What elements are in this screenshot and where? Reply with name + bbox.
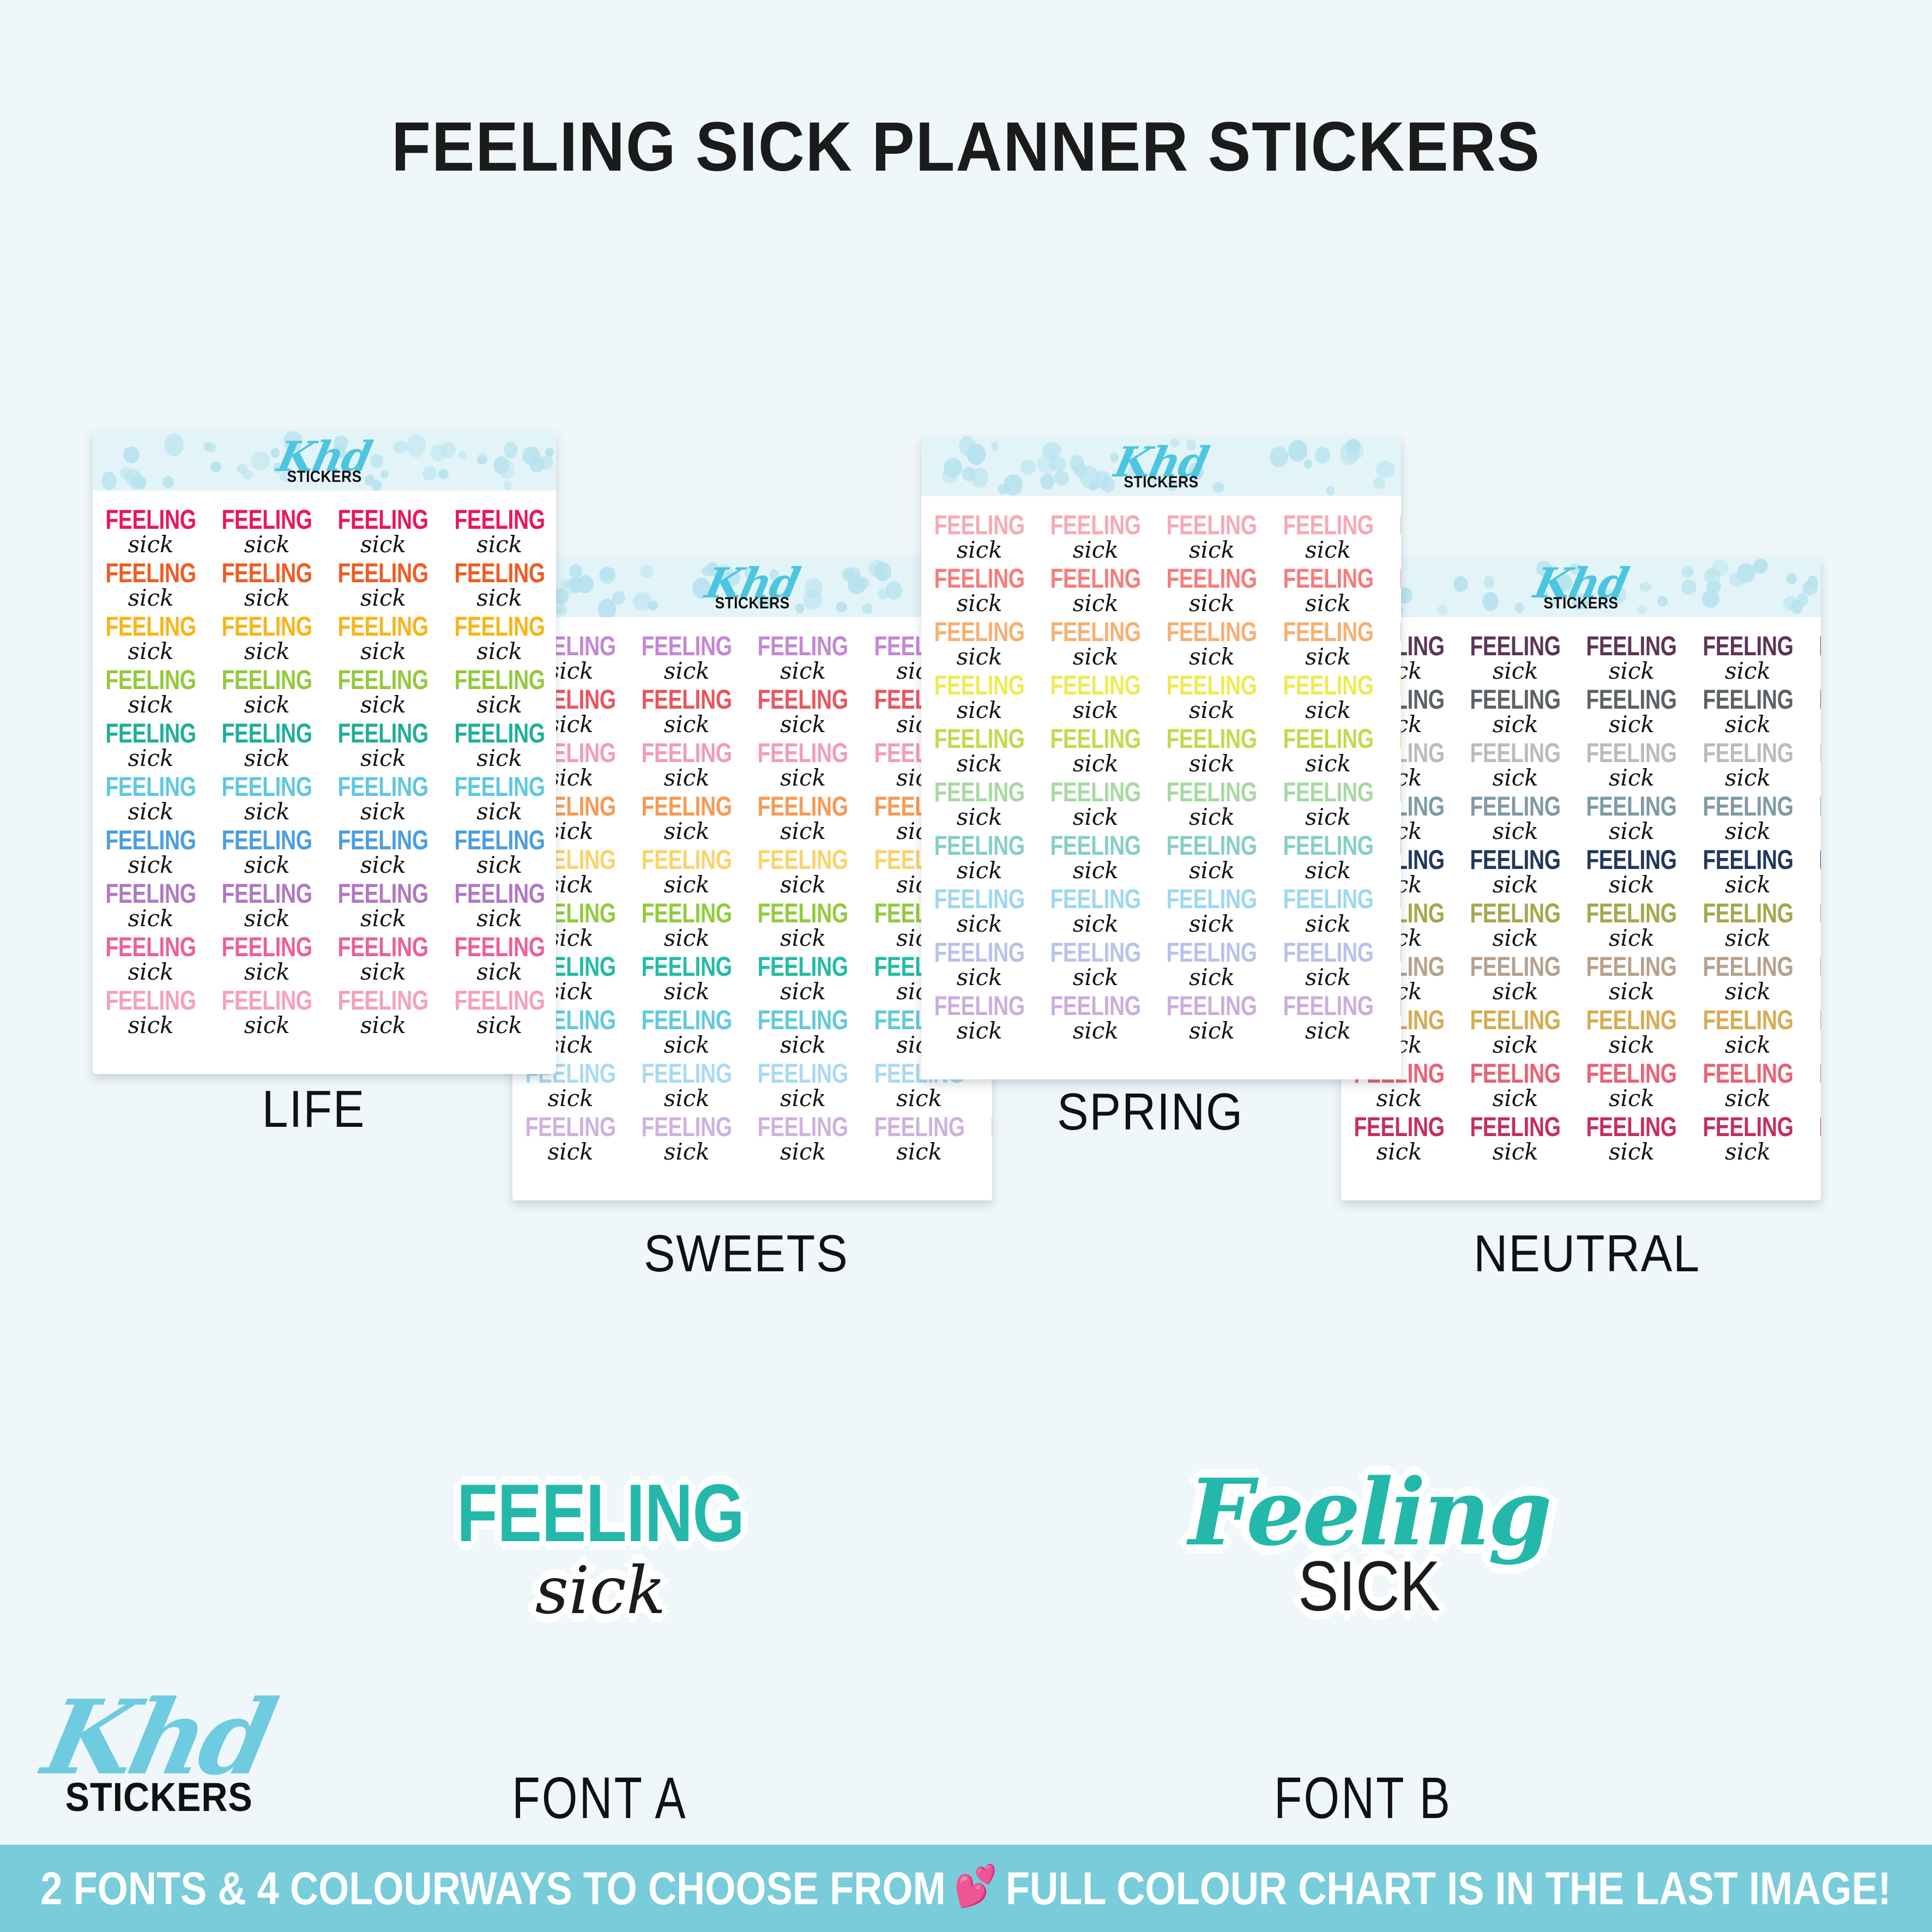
- sticker-line-sick: sick: [921, 539, 1037, 562]
- sticker-line-feeling: FEELING: [934, 672, 1024, 699]
- sticker-feeling-sick[interactable]: FEELINGsick: [442, 987, 556, 1040]
- banner-text-before: 2 FONTS & 4 COLOURWAYS TO CHOOSE FROM: [41, 1862, 946, 1915]
- sticker-line-feeling: FEELING: [1470, 739, 1561, 766]
- sticker-feeling-sick[interactable]: FEELINGsick: [1037, 939, 1154, 992]
- sticker-line-feeling: FEELING: [1470, 686, 1561, 713]
- sticker-feeling-sick[interactable]: FEELINGsick: [209, 720, 325, 773]
- sticker-feeling-sick[interactable]: FEELINGsick: [325, 773, 441, 826]
- sticker-feeling-sick[interactable]: FEELINGsick: [325, 559, 441, 613]
- sticker-feeling-sick[interactable]: FEELINGsick: [1573, 899, 1689, 953]
- sticker-feeling-sick[interactable]: FEELINGsick: [1154, 725, 1270, 778]
- sticker-feeling-sick[interactable]: FEELINGsick: [1154, 992, 1270, 1046]
- sticker-feeling-sick[interactable]: FEELINGsick: [93, 506, 209, 559]
- sticker-feeling-sick[interactable]: FEELINGsick: [209, 826, 325, 880]
- sticker-line-sick: sick: [861, 1087, 977, 1110]
- sticker-feeling-sick[interactable]: FEELINGsick: [629, 1006, 745, 1060]
- sticker-feeling-sick[interactable]: FEELINGsick: [745, 1113, 861, 1167]
- sticker-feeling-sick[interactable]: FEELINGsick: [442, 773, 556, 826]
- sticker-feeling-sick[interactable]: FEELINGsick: [1573, 953, 1689, 1006]
- sticker-line-feeling: FEELING: [222, 506, 312, 533]
- sticker-line-feeling: FEELING: [338, 933, 428, 961]
- sticker-line-sick: sick: [93, 961, 209, 983]
- sticker-line-sick: sick: [1806, 1034, 1821, 1056]
- sticker-feeling-sick[interactable]: FEELINGsick: [1457, 686, 1573, 739]
- sticker-feeling-sick[interactable]: FEELINGsick: [442, 666, 556, 720]
- sticker-feeling-sick[interactable]: FEELINGsick: [1154, 885, 1270, 939]
- sticker-line-sick: sick: [209, 747, 325, 770]
- sticker-feeling-sick[interactable]: FEELINGsick: [1037, 778, 1154, 832]
- sticker-feeling-sick[interactable]: FEELINGsick: [745, 1060, 861, 1113]
- sticker-feeling-sick[interactable]: FEELINGsick: [629, 1113, 745, 1167]
- sticker-line-feeling: FEELING: [105, 880, 196, 907]
- sticker-feeling-sick[interactable]: FEELINGsick: [1457, 1113, 1573, 1167]
- sticker-line-feeling: FEELING: [758, 632, 848, 660]
- sticker-line-feeling: FEELING: [338, 559, 428, 587]
- sticker-line-sick: sick: [745, 873, 861, 896]
- sticker-line-feeling: FEELING: [1702, 846, 1793, 873]
- sticker-line-sick: sick: [1457, 713, 1573, 736]
- font-b-line2: SICK: [1213, 1550, 1524, 1621]
- sticker-feeling-sick[interactable]: FEELINGsick: [93, 773, 209, 826]
- sticker-row: FEELINGsickFEELINGsickFEELINGsickFEELING…: [93, 826, 556, 880]
- sticker-line-sick: sick: [921, 752, 1037, 775]
- sticker-line-feeling: FEELING: [1819, 739, 1821, 766]
- sticker-line-feeling: FEELING: [1399, 832, 1401, 859]
- sticker-line-feeling: FEELING: [642, 1113, 732, 1140]
- sticker-line-sick: sick: [442, 800, 556, 823]
- sticker-feeling-sick[interactable]: FEELINGsick: [1690, 846, 1806, 899]
- sticker-line-sick: sick: [1386, 806, 1401, 829]
- sticker-feeling-sick[interactable]: FEELINGsick: [93, 933, 209, 987]
- sticker-feeling-sick[interactable]: FEELINGsick: [1806, 953, 1821, 1006]
- sticker-feeling-sick[interactable]: FEELINGsick: [1690, 899, 1806, 953]
- sticker-feeling-sick[interactable]: FEELINGsick: [745, 846, 861, 899]
- sticker-feeling-sick[interactable]: FEELINGsick: [209, 559, 325, 613]
- sticker-feeling-sick[interactable]: FEELINGsick: [1573, 1006, 1689, 1060]
- sticker-line-sick: sick: [1154, 913, 1270, 935]
- sticker-feeling-sick[interactable]: FEELINGsick: [1690, 632, 1806, 686]
- sticker-line-feeling: FEELING: [454, 933, 545, 961]
- sticker-feeling-sick[interactable]: FEELINGsick: [1386, 778, 1401, 832]
- sticker-feeling-sick[interactable]: FEELINGsick: [442, 559, 556, 613]
- sticker-feeling-sick[interactable]: FEELINGsick: [1457, 793, 1573, 846]
- sticker-feeling-sick[interactable]: FEELINGsick: [745, 632, 861, 686]
- sticker-feeling-sick[interactable]: FEELINGsick: [1037, 618, 1154, 672]
- sticker-line-feeling: FEELING: [934, 992, 1024, 1019]
- sticker-line-feeling: FEELING: [1819, 793, 1821, 820]
- sticker-line-feeling: FEELING: [222, 933, 312, 961]
- sticker-line-feeling: FEELING: [758, 1006, 848, 1034]
- sticker-line-sick: sick: [1270, 966, 1386, 989]
- sticker-feeling-sick[interactable]: FEELINGsick: [1270, 565, 1386, 618]
- sticker-feeling-sick[interactable]: FEELINGsick: [1806, 1113, 1821, 1167]
- sticker-line-sick: sick: [1037, 592, 1154, 615]
- sticker-line-feeling: FEELING: [934, 725, 1024, 752]
- sticker-feeling-sick[interactable]: FEELINGsick: [921, 778, 1037, 832]
- sticker-feeling-sick[interactable]: FEELINGsick: [1806, 686, 1821, 739]
- sticker-feeling-sick[interactable]: FEELINGsick: [1573, 686, 1689, 739]
- sticker-sheet-sweets[interactable]: KhdSTICKERSFEELINGsickFEELINGsickFEELING…: [512, 557, 992, 1200]
- sticker-row: FEELINGsickFEELINGsickFEELINGsickFEELING…: [93, 773, 556, 826]
- sticker-line-sick: sick: [209, 1014, 325, 1037]
- sticker-feeling-sick[interactable]: FEELINGsick: [1270, 618, 1386, 672]
- sticker-feeling-sick[interactable]: FEELINGsick: [1457, 739, 1573, 793]
- sticker-line-sick: sick: [1573, 766, 1689, 789]
- sticker-feeling-sick[interactable]: FEELINGsick: [325, 720, 441, 773]
- sticker-feeling-sick[interactable]: FEELINGsick: [1457, 846, 1573, 899]
- sheet-logo-life: KhdSTICKERS: [279, 436, 370, 485]
- sticker-feeling-sick[interactable]: FEELINGsick: [1270, 832, 1386, 885]
- sticker-line-feeling: FEELING: [934, 832, 1024, 859]
- sticker-line-feeling: FEELING: [1354, 1113, 1444, 1140]
- sticker-line-sick: sick: [629, 927, 745, 950]
- sticker-line-feeling: FEELING: [222, 666, 312, 693]
- sticker-line-sick: sick: [1386, 645, 1401, 668]
- sticker-feeling-sick[interactable]: FEELINGsick: [442, 826, 556, 880]
- sticker-line-feeling: FEELING: [1050, 511, 1141, 539]
- sticker-feeling-sick[interactable]: FEELINGsick: [629, 632, 745, 686]
- sticker-feeling-sick[interactable]: FEELINGsick: [1154, 832, 1270, 885]
- sticker-feeling-sick[interactable]: FEELINGsick: [1806, 846, 1821, 899]
- sticker-feeling-sick[interactable]: FEELINGsick: [1573, 1060, 1689, 1113]
- sticker-row: FEELINGsickFEELINGsickFEELINGsickFEELING…: [93, 880, 556, 933]
- sticker-feeling-sick[interactable]: FEELINGsick: [442, 880, 556, 933]
- sticker-row: FEELINGsickFEELINGsickFEELINGsickFEELING…: [512, 632, 992, 686]
- sticker-feeling-sick[interactable]: FEELINGsick: [1386, 885, 1401, 939]
- sticker-row: FEELINGsickFEELINGsickFEELINGsickFEELING…: [921, 511, 1401, 565]
- sticker-feeling-sick[interactable]: FEELINGsick: [1806, 793, 1821, 846]
- sticker-sheet-neutral[interactable]: KhdSTICKERSFEELINGsickFEELINGsickFEELING…: [1341, 557, 1821, 1200]
- sticker-line-feeling: FEELING: [1586, 739, 1677, 766]
- sticker-line-sick: sick: [1386, 966, 1401, 989]
- sticker-line-sick: sick: [1690, 1087, 1806, 1110]
- sticker-feeling-sick[interactable]: FEELINGsick: [921, 992, 1037, 1046]
- sticker-line-sick: sick: [629, 1034, 745, 1056]
- sticker-line-sick: sick: [1154, 699, 1270, 722]
- sticker-line-feeling: FEELING: [1283, 618, 1373, 645]
- sticker-feeling-sick[interactable]: FEELINGsick: [921, 939, 1037, 992]
- sticker-feeling-sick[interactable]: FEELINGsick: [1037, 885, 1154, 939]
- sticker-feeling-sick[interactable]: FEELINGsick: [1457, 1060, 1573, 1113]
- sticker-line-sick: sick: [1270, 806, 1386, 829]
- sticker-feeling-sick[interactable]: FEELINGsick: [93, 987, 209, 1040]
- sticker-feeling-sick[interactable]: FEELINGsick: [1270, 672, 1386, 725]
- sticker-line-sick: sick: [1573, 820, 1689, 843]
- sticker-feeling-sick[interactable]: FEELINGsick: [1806, 1006, 1821, 1060]
- sticker-feeling-sick[interactable]: FEELINGsick: [921, 725, 1037, 778]
- khd-logo-subtitle: STICKERS: [1121, 474, 1202, 491]
- sticker-row: FEELINGsickFEELINGsickFEELINGsickFEELING…: [512, 686, 992, 739]
- sticker-line-sick: sick: [1270, 699, 1386, 722]
- sticker-feeling-sick[interactable]: FEELINGsick: [1154, 672, 1270, 725]
- sticker-line-feeling: FEELING: [1050, 832, 1141, 859]
- sticker-feeling-sick[interactable]: FEELINGsick: [1037, 725, 1154, 778]
- sticker-line-sick: sick: [1573, 1140, 1689, 1163]
- sticker-feeling-sick[interactable]: FEELINGsick: [629, 953, 745, 1006]
- sticker-line-feeling: FEELING: [1819, 632, 1821, 660]
- sheet-body-sweets: FEELINGsickFEELINGsickFEELINGsickFEELING…: [512, 617, 992, 1200]
- sticker-line-feeling: FEELING: [1167, 832, 1257, 859]
- sticker-row: FEELINGsickFEELINGsickFEELINGsickFEELING…: [921, 832, 1401, 885]
- sticker-line-feeling: FEELING: [1283, 992, 1373, 1019]
- sticker-feeling-sick[interactable]: FEELINGsick: [1457, 899, 1573, 953]
- sticker-feeling-sick[interactable]: FEELINGsick: [1690, 1060, 1806, 1113]
- sticker-line-feeling: FEELING: [1702, 953, 1793, 980]
- sticker-line-sick: sick: [1806, 660, 1821, 683]
- sticker-feeling-sick[interactable]: FEELINGsick: [745, 739, 861, 793]
- font-a-line1: FEELING: [457, 1472, 744, 1554]
- sticker-feeling-sick[interactable]: FEELINGsick: [209, 880, 325, 933]
- sticker-feeling-sick[interactable]: FEELINGsick: [977, 1113, 992, 1167]
- page-title: FEELING SICK PLANNER STICKERS: [77, 107, 1855, 187]
- sticker-line-sick: sick: [921, 592, 1037, 615]
- sticker-line-feeling: FEELING: [1167, 939, 1257, 966]
- sticker-row: FEELINGsickFEELINGsickFEELINGsickFEELING…: [921, 725, 1401, 778]
- sticker-line-feeling: FEELING: [1702, 686, 1793, 713]
- sticker-line-feeling: FEELING: [454, 773, 545, 800]
- sticker-line-sick: sick: [1457, 873, 1573, 896]
- sticker-feeling-sick[interactable]: FEELINGsick: [1154, 565, 1270, 618]
- sticker-feeling-sick[interactable]: FEELINGsick: [1154, 511, 1270, 565]
- sticker-feeling-sick[interactable]: FEELINGsick: [1573, 632, 1689, 686]
- sticker-line-feeling: FEELING: [338, 987, 428, 1014]
- sticker-line-sick: sick: [1037, 1019, 1154, 1042]
- sticker-line-feeling: FEELING: [990, 1113, 992, 1140]
- sticker-feeling-sick[interactable]: FEELINGsick: [1457, 953, 1573, 1006]
- sticker-line-sick: sick: [93, 587, 209, 609]
- sticker-feeling-sick[interactable]: FEELINGsick: [1457, 632, 1573, 686]
- sticker-feeling-sick[interactable]: FEELINGsick: [1037, 832, 1154, 885]
- sticker-line-feeling: FEELING: [642, 632, 732, 660]
- sticker-line-sick: sick: [745, 660, 861, 683]
- sticker-feeling-sick[interactable]: FEELINGsick: [209, 613, 325, 666]
- sticker-line-sick: sick: [93, 640, 209, 663]
- sticker-line-feeling: FEELING: [1050, 725, 1141, 752]
- sticker-feeling-sick[interactable]: FEELINGsick: [325, 880, 441, 933]
- sticker-feeling-sick[interactable]: FEELINGsick: [629, 739, 745, 793]
- sticker-feeling-sick[interactable]: FEELINGsick: [1037, 992, 1154, 1046]
- sticker-feeling-sick[interactable]: FEELINGsick: [629, 793, 745, 846]
- sticker-row: FEELINGsickFEELINGsickFEELINGsickFEELING…: [921, 885, 1401, 939]
- sticker-line-sick: sick: [1690, 873, 1806, 896]
- sticker-line-sick: sick: [629, 980, 745, 1003]
- sticker-line-sick: sick: [209, 800, 325, 823]
- sticker-feeling-sick[interactable]: FEELINGsick: [629, 1060, 745, 1113]
- sticker-line-sick: sick: [1037, 539, 1154, 562]
- sticker-feeling-sick[interactable]: FEELINGsick: [209, 506, 325, 559]
- sticker-feeling-sick[interactable]: FEELINGsick: [93, 613, 209, 666]
- sticker-line-sick: sick: [325, 907, 441, 930]
- sticker-line-feeling: FEELING: [1283, 725, 1373, 752]
- font-a-caption: FONT A: [463, 1764, 735, 1832]
- sheet-logo-sweets: KhdSTICKERS: [707, 563, 798, 612]
- sticker-feeling-sick[interactable]: FEELINGsick: [93, 826, 209, 880]
- sticker-feeling-sick[interactable]: FEELINGsick: [209, 773, 325, 826]
- sticker-feeling-sick[interactable]: FEELINGsick: [921, 672, 1037, 725]
- sticker-feeling-sick[interactable]: FEELINGsick: [1690, 953, 1806, 1006]
- sticker-feeling-sick[interactable]: FEELINGsick: [1270, 939, 1386, 992]
- sticker-feeling-sick[interactable]: FEELINGsick: [442, 933, 556, 987]
- sticker-feeling-sick[interactable]: FEELINGsick: [325, 506, 441, 559]
- sticker-feeling-sick[interactable]: FEELINGsick: [1690, 739, 1806, 793]
- sticker-feeling-sick[interactable]: FEELINGsick: [1270, 992, 1386, 1046]
- sticker-feeling-sick[interactable]: FEELINGsick: [921, 565, 1037, 618]
- sticker-feeling-sick[interactable]: FEELINGsick: [1270, 511, 1386, 565]
- sticker-feeling-sick[interactable]: FEELINGsick: [629, 846, 745, 899]
- sticker-feeling-sick[interactable]: FEELINGsick: [442, 720, 556, 773]
- sticker-line-feeling: FEELING: [1167, 992, 1257, 1019]
- sticker-feeling-sick[interactable]: FEELINGsick: [1386, 992, 1401, 1046]
- sticker-feeling-sick[interactable]: FEELINGsick: [1037, 672, 1154, 725]
- sticker-feeling-sick[interactable]: FEELINGsick: [921, 832, 1037, 885]
- sticker-feeling-sick[interactable]: FEELINGsick: [1457, 1006, 1573, 1060]
- sticker-feeling-sick[interactable]: FEELINGsick: [325, 613, 441, 666]
- sticker-line-feeling: FEELING: [1167, 885, 1257, 913]
- sticker-line-feeling: FEELING: [1399, 725, 1401, 752]
- sticker-row: FEELINGsickFEELINGsickFEELINGsickFEELING…: [1341, 953, 1821, 1006]
- sticker-feeling-sick[interactable]: FEELINGsick: [93, 880, 209, 933]
- brand-subtitle: STICKERS: [65, 1777, 258, 1818]
- sticker-feeling-sick[interactable]: FEELINGsick: [1386, 725, 1401, 778]
- sticker-line-sick: sick: [1806, 820, 1821, 843]
- sticker-feeling-sick[interactable]: FEELINGsick: [93, 666, 209, 720]
- sticker-line-feeling: FEELING: [338, 666, 428, 693]
- sticker-feeling-sick[interactable]: FEELINGsick: [325, 987, 441, 1040]
- sticker-feeling-sick[interactable]: FEELINGsick: [1270, 725, 1386, 778]
- sticker-feeling-sick[interactable]: FEELINGsick: [745, 899, 861, 953]
- sticker-line-sick: sick: [921, 1019, 1037, 1042]
- sticker-feeling-sick[interactable]: FEELINGsick: [512, 1113, 629, 1167]
- sticker-feeling-sick[interactable]: FEELINGsick: [745, 1006, 861, 1060]
- sticker-feeling-sick[interactable]: FEELINGsick: [1386, 565, 1401, 618]
- sticker-line-feeling: FEELING: [1167, 511, 1257, 539]
- sticker-feeling-sick[interactable]: FEELINGsick: [93, 559, 209, 613]
- sticker-feeling-sick[interactable]: FEELINGsick: [1573, 846, 1689, 899]
- sticker-line-feeling: FEELING: [105, 773, 196, 800]
- sticker-line-feeling: FEELING: [105, 987, 196, 1014]
- sticker-feeling-sick[interactable]: FEELINGsick: [1690, 686, 1806, 739]
- sticker-line-feeling: FEELING: [1819, 1060, 1821, 1087]
- sticker-line-feeling: FEELING: [222, 987, 312, 1014]
- sticker-line-feeling: FEELING: [1167, 565, 1257, 592]
- sticker-line-feeling: FEELING: [1819, 899, 1821, 927]
- sticker-feeling-sick[interactable]: FEELINGsick: [1806, 899, 1821, 953]
- sticker-feeling-sick[interactable]: FEELINGsick: [921, 885, 1037, 939]
- sticker-line-feeling: FEELING: [758, 899, 848, 927]
- sticker-line-feeling: FEELING: [1167, 725, 1257, 752]
- sticker-feeling-sick[interactable]: FEELINGsick: [1154, 618, 1270, 672]
- sticker-line-feeling: FEELING: [758, 1113, 848, 1140]
- font-sample-b: Feeling SICK: [1188, 1466, 1537, 1621]
- sticker-feeling-sick[interactable]: FEELINGsick: [1690, 1006, 1806, 1060]
- sticker-feeling-sick[interactable]: FEELINGsick: [1806, 1060, 1821, 1113]
- sticker-feeling-sick[interactable]: FEELINGsick: [1573, 1113, 1689, 1167]
- sticker-feeling-sick[interactable]: FEELINGsick: [325, 933, 441, 987]
- sticker-feeling-sick[interactable]: FEELINGsick: [1154, 939, 1270, 992]
- sticker-feeling-sick[interactable]: FEELINGsick: [1037, 511, 1154, 565]
- sticker-line-feeling: FEELING: [1399, 511, 1401, 539]
- sticker-line-feeling: FEELING: [1050, 672, 1141, 699]
- sticker-line-sick: sick: [629, 820, 745, 843]
- sticker-line-sick: sick: [1386, 752, 1401, 775]
- sticker-feeling-sick[interactable]: FEELINGsick: [1270, 885, 1386, 939]
- sticker-feeling-sick[interactable]: FEELINGsick: [1386, 832, 1401, 885]
- sticker-line-sick: sick: [1690, 927, 1806, 950]
- sticker-line-sick: sick: [1270, 645, 1386, 668]
- sticker-line-feeling: FEELING: [1283, 885, 1373, 913]
- sticker-line-feeling: FEELING: [1399, 672, 1401, 699]
- sticker-feeling-sick[interactable]: FEELINGsick: [1573, 739, 1689, 793]
- sticker-feeling-sick[interactable]: FEELINGsick: [1690, 793, 1806, 846]
- sticker-feeling-sick[interactable]: FEELINGsick: [1341, 1113, 1457, 1167]
- sticker-line-sick: sick: [1457, 766, 1573, 789]
- sticker-feeling-sick[interactable]: FEELINGsick: [861, 1113, 977, 1167]
- sticker-feeling-sick[interactable]: FEELINGsick: [93, 720, 209, 773]
- sticker-feeling-sick[interactable]: FEELINGsick: [1806, 632, 1821, 686]
- sticker-line-sick: sick: [93, 907, 209, 930]
- sticker-feeling-sick[interactable]: FEELINGsick: [1386, 672, 1401, 725]
- sticker-feeling-sick[interactable]: FEELINGsick: [1154, 778, 1270, 832]
- sticker-feeling-sick[interactable]: FEELINGsick: [1806, 739, 1821, 793]
- sticker-feeling-sick[interactable]: FEELINGsick: [1573, 793, 1689, 846]
- sticker-line-feeling: FEELING: [1586, 1113, 1677, 1140]
- sticker-line-feeling: FEELING: [1399, 885, 1401, 913]
- sticker-feeling-sick[interactable]: FEELINGsick: [921, 618, 1037, 672]
- sticker-line-sick: sick: [977, 1140, 992, 1163]
- sticker-feeling-sick[interactable]: FEELINGsick: [1037, 565, 1154, 618]
- sticker-feeling-sick[interactable]: FEELINGsick: [1690, 1113, 1806, 1167]
- sticker-line-feeling: FEELING: [934, 778, 1024, 806]
- sticker-feeling-sick[interactable]: FEELINGsick: [745, 686, 861, 739]
- sticker-feeling-sick[interactable]: FEELINGsick: [1386, 511, 1401, 565]
- sticker-sheet-life[interactable]: KhdSTICKERSFEELINGsickFEELINGsickFEELING…: [93, 431, 556, 1074]
- sticker-line-sick: sick: [1154, 859, 1270, 882]
- sticker-line-feeling: FEELING: [105, 559, 196, 587]
- sticker-feeling-sick[interactable]: FEELINGsick: [921, 511, 1037, 565]
- sticker-feeling-sick[interactable]: FEELINGsick: [1386, 618, 1401, 672]
- sticker-line-sick: sick: [1457, 820, 1573, 843]
- sticker-feeling-sick[interactable]: FEELINGsick: [442, 613, 556, 666]
- sticker-line-feeling: FEELING: [642, 739, 732, 766]
- sticker-line-sick: sick: [745, 927, 861, 950]
- sticker-line-feeling: FEELING: [222, 826, 312, 854]
- sticker-feeling-sick[interactable]: FEELINGsick: [1386, 939, 1401, 992]
- sticker-row: FEELINGsickFEELINGsickFEELINGsickFEELING…: [93, 613, 556, 666]
- sticker-sheet-spring[interactable]: KhdSTICKERSFEELINGsickFEELINGsickFEELING…: [921, 436, 1401, 1079]
- sticker-feeling-sick[interactable]: FEELINGsick: [209, 933, 325, 987]
- sticker-line-feeling: FEELING: [454, 506, 545, 533]
- sticker-line-sick: sick: [442, 747, 556, 770]
- khd-logo-subtitle: STICKERS: [1541, 595, 1621, 612]
- sticker-feeling-sick[interactable]: FEELINGsick: [745, 793, 861, 846]
- sticker-feeling-sick[interactable]: FEELINGsick: [325, 666, 441, 720]
- sticker-feeling-sick[interactable]: FEELINGsick: [209, 666, 325, 720]
- sticker-line-sick: sick: [1806, 1087, 1821, 1110]
- sticker-feeling-sick[interactable]: FEELINGsick: [442, 506, 556, 559]
- sticker-line-sick: sick: [1573, 660, 1689, 683]
- sticker-line-feeling: FEELING: [1702, 1006, 1793, 1034]
- sticker-line-feeling: FEELING: [1283, 565, 1373, 592]
- sticker-feeling-sick[interactable]: FEELINGsick: [745, 953, 861, 1006]
- sticker-feeling-sick[interactable]: FEELINGsick: [1270, 778, 1386, 832]
- sticker-line-sick: sick: [1573, 873, 1689, 896]
- sticker-feeling-sick[interactable]: FEELINGsick: [629, 899, 745, 953]
- sticker-feeling-sick[interactable]: FEELINGsick: [325, 826, 441, 880]
- sticker-feeling-sick[interactable]: FEELINGsick: [209, 987, 325, 1040]
- sticker-line-sick: sick: [209, 693, 325, 716]
- sticker-feeling-sick[interactable]: FEELINGsick: [629, 686, 745, 739]
- sticker-line-sick: sick: [1154, 645, 1270, 668]
